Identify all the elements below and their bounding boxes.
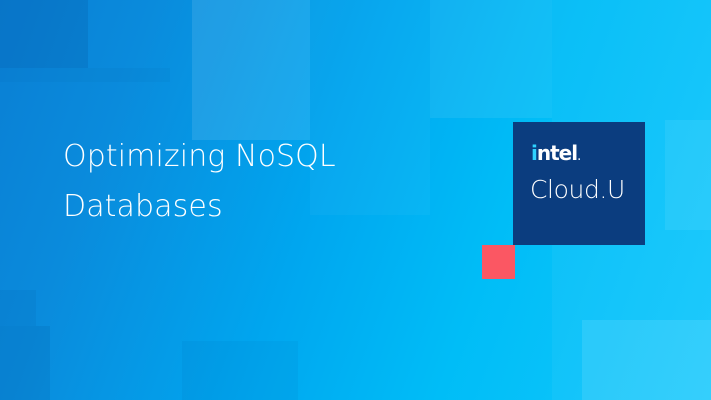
bg-rect-top-left: [0, 0, 88, 68]
title-line-2: Databases: [63, 182, 423, 232]
bg-rect-top-middle: [192, 0, 310, 140]
intel-wordmark-period: .: [577, 149, 580, 164]
bg-rect-bottom-right: [582, 320, 711, 400]
accent-square: [482, 245, 515, 279]
bg-rect-bottom-left-two: [0, 290, 36, 326]
bg-rect-right-middle: [665, 120, 711, 230]
cloudu-wordmark: Cloud.U: [530, 176, 625, 204]
page-title: Optimizing NoSQL Databases: [63, 132, 423, 232]
intel-wordmark-rest: ntel: [537, 141, 577, 165]
bg-rect-bottom-left: [0, 326, 50, 400]
intel-cloudu-logo: intel. Cloud.U: [513, 122, 645, 245]
bg-band-top-left: [0, 68, 170, 82]
bg-rect-top-right: [430, 0, 552, 118]
intel-wordmark: intel.: [531, 143, 580, 167]
bg-rect-bottom-middle: [182, 341, 298, 400]
title-slide: Optimizing NoSQL Databases intel. Cloud.…: [0, 0, 711, 400]
title-line-1: Optimizing NoSQL: [63, 132, 423, 182]
